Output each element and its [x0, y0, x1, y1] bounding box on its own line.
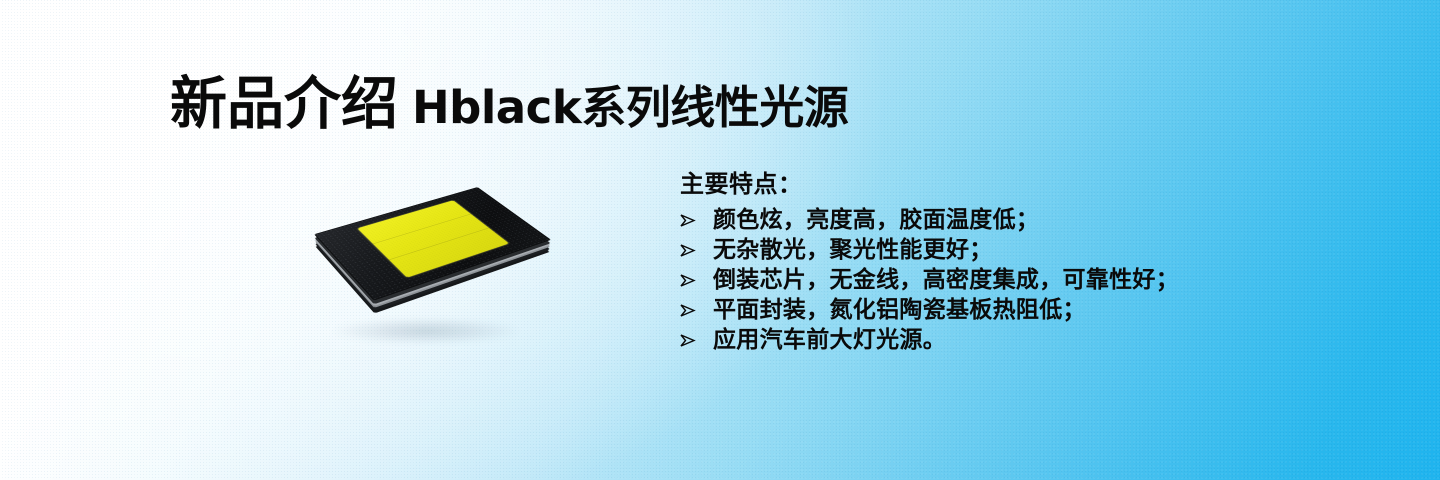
title-main-text: 新品介绍 [170, 71, 398, 137]
slide-canvas: 新品介绍Hblack系列线性光源 主要特点： 颜色炫，亮度高，胶面温度低； [0, 0, 1440, 480]
feature-text: 无杂散光，聚光性能更好； [713, 235, 993, 265]
arrow-bullet-icon [680, 325, 713, 347]
feature-list-item: 颜色炫，亮度高，胶面温度低； [680, 205, 1179, 235]
feature-list-item: 应用汽车前大灯光源。 [680, 325, 1179, 355]
arrow-bullet-icon [680, 295, 713, 317]
arrow-bullet-icon [680, 205, 713, 227]
feature-text: 倒装芯片，无金线，高密度集成，可靠性好； [713, 265, 1179, 295]
title-sub-text: Hblack系列线性光源 [412, 81, 848, 134]
features-panel: 主要特点： 颜色炫，亮度高，胶面温度低； 无杂散光，聚光性能更好； 倒装芯片，无… [680, 172, 1179, 355]
feature-list-item: 平面封装，氮化铝陶瓷基板热阻低； [680, 295, 1179, 325]
feature-text: 平面封装，氮化铝陶瓷基板热阻低； [713, 295, 1086, 325]
feature-text: 颜色炫，亮度高，胶面温度低； [713, 205, 1039, 235]
features-heading: 主要特点： [680, 172, 1179, 196]
led-body [315, 198, 550, 313]
arrow-bullet-icon [680, 265, 713, 287]
product-image-led-package [318, 178, 548, 343]
arrow-bullet-icon [680, 235, 713, 257]
feature-list-item: 无杂散光，聚光性能更好； [680, 235, 1179, 265]
feature-text: 应用汽车前大灯光源。 [713, 325, 946, 355]
page-title: 新品介绍Hblack系列线性光源 [170, 76, 848, 133]
feature-list-item: 倒装芯片，无金线，高密度集成，可靠性好； [680, 265, 1179, 295]
